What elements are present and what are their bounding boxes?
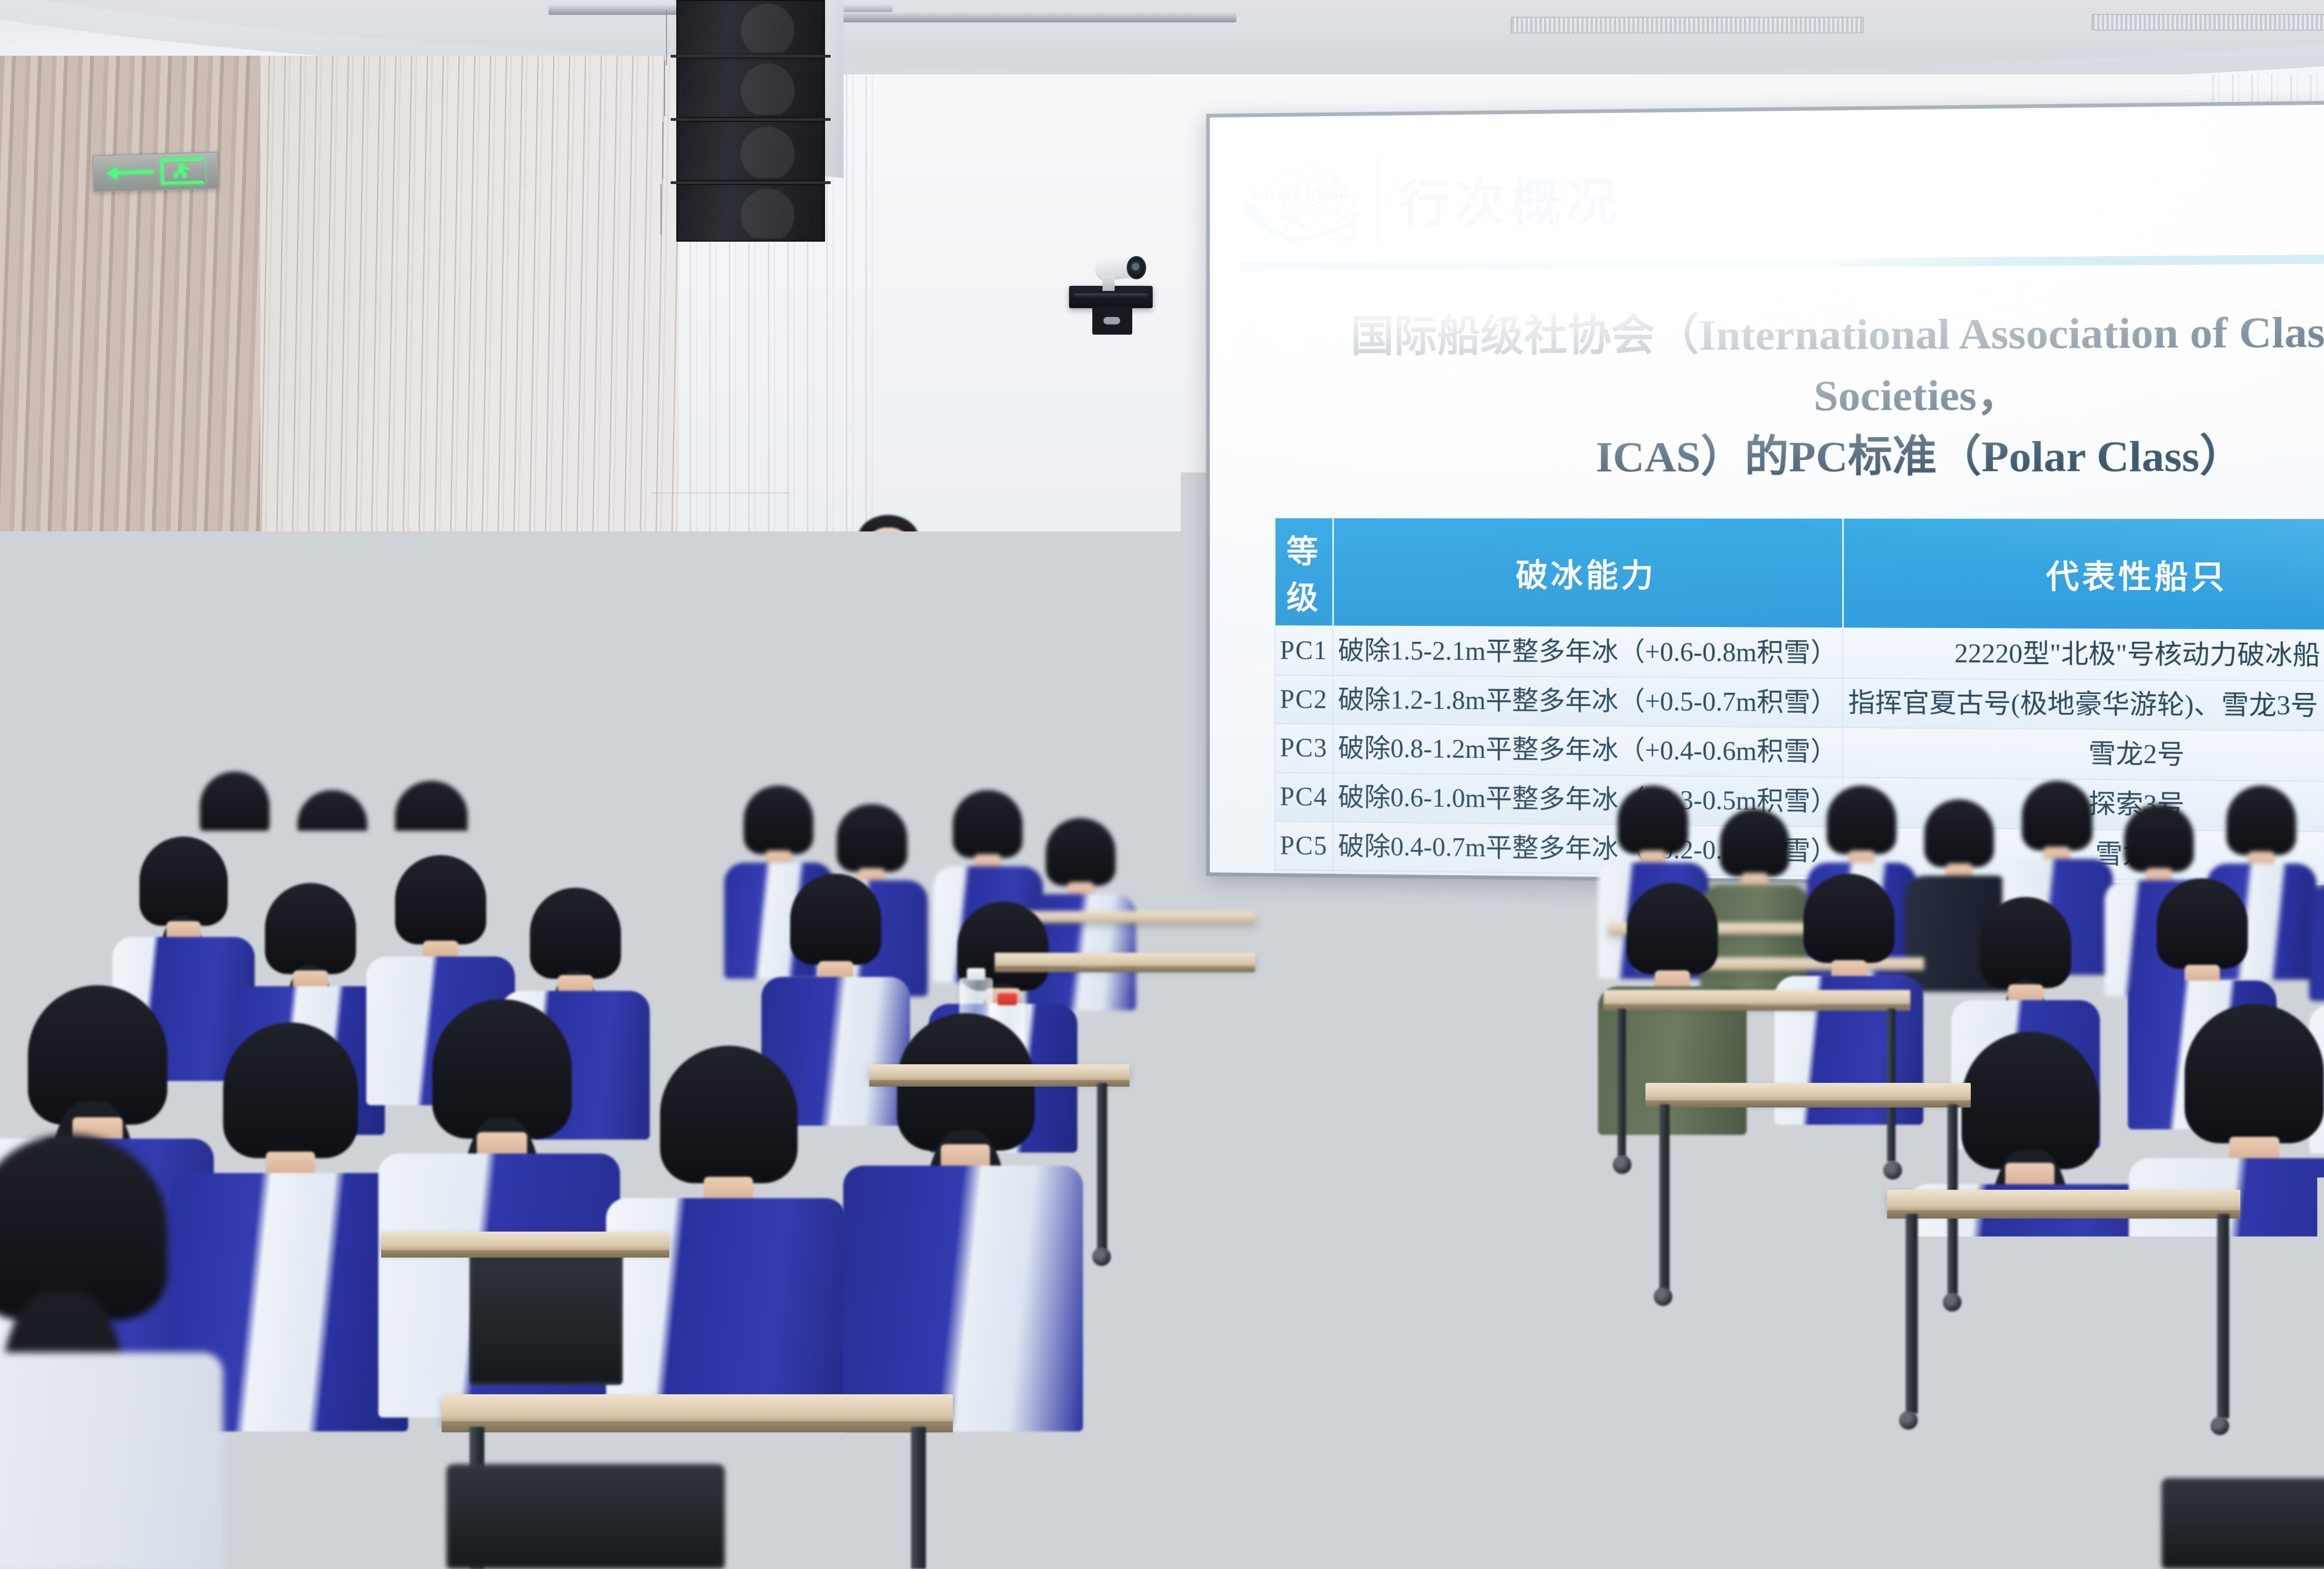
glasses-icon xyxy=(864,547,913,560)
wall-panel-seam xyxy=(651,493,790,494)
slide-body-title-line1: 国际船级社协会（International Association of Cla… xyxy=(1274,300,2324,427)
atom-logo-icon: Science Island xyxy=(1241,148,1371,254)
cell-capability: 破除1.5-2.1m平整多年冰（+0.6-0.8m积雪） xyxy=(1333,626,1843,678)
cell-grade: PC2 xyxy=(1275,675,1333,725)
camera-wall-bracket xyxy=(1092,307,1132,335)
speaker-safety-wire xyxy=(660,184,661,235)
ceiling-speaker-array xyxy=(676,0,825,242)
table-row: PC1 破除1.5-2.1m平整多年冰（+0.6-0.8m积雪） 22220型"… xyxy=(1275,626,2324,684)
exit-arrow-left-icon xyxy=(106,166,153,179)
podium-apron xyxy=(889,691,1062,712)
student xyxy=(0,1134,167,1569)
speaker-safety-wire xyxy=(666,9,667,65)
student xyxy=(790,874,881,1125)
desk xyxy=(1604,990,1910,1006)
student xyxy=(1720,809,1789,1004)
chair[interactable] xyxy=(469,1246,623,1385)
exit-door-icon xyxy=(1414,968,1450,989)
table-header-row: 等级 破冰能力 代表性船只 备注 xyxy=(1275,518,2324,633)
speaker-safety-wire xyxy=(662,122,663,179)
exit-sign-led xyxy=(1450,987,1457,991)
header-divider xyxy=(1376,156,1378,244)
desk xyxy=(1645,1083,1971,1101)
cell-capability: 破除1.2-1.8m平整多年冰（+0.5-0.7m积雪） xyxy=(1333,675,1843,728)
logo-text: Science Island xyxy=(1249,184,1348,203)
slide-header: Science Island 行次概况 xyxy=(1241,128,2324,259)
exit-arrow-left-icon xyxy=(1370,974,1408,983)
student xyxy=(660,1046,798,1455)
slide-body-title-line2: ICAS）的PC标准（Polar Class） xyxy=(1274,424,2324,487)
speaker-module xyxy=(676,58,825,118)
cell-ships: 22220型"北极"号核动力破冰船 xyxy=(1843,628,2324,681)
slide-header-title: 行次概况 xyxy=(1399,161,1622,237)
table-header-grade: 等级 xyxy=(1275,518,1333,626)
desk xyxy=(995,953,1255,968)
presentation-slide: Science Island 行次概况 国际船级社协会（Internationa… xyxy=(1210,101,2324,889)
speaker-module xyxy=(676,184,825,242)
desk xyxy=(381,1232,669,1251)
podium-institution-text: 中国科学院合肥物质院 xyxy=(883,639,1069,660)
dslr-camera-lens xyxy=(746,734,786,768)
speaker-safety-wire xyxy=(664,60,665,116)
running-man-icon xyxy=(170,163,195,179)
projection-screen: Science Island 行次概况 国际船级社协会（Internationa… xyxy=(1206,97,2324,893)
chair[interactable] xyxy=(2161,1478,2324,1569)
speaker-module xyxy=(676,121,825,181)
cell-grade: PC1 xyxy=(1275,626,1333,675)
student xyxy=(223,1022,358,1431)
slide-body: 国际船级社协会（International Association of Cla… xyxy=(1241,262,2324,889)
cell-ships: 指挥官夏古号(极地豪华游轮)、雪龙3号（在建） xyxy=(1843,678,2324,732)
desk xyxy=(869,1064,1129,1081)
emergency-exit-sign xyxy=(92,152,219,192)
speaker-module xyxy=(676,0,825,56)
slide-surface: Science Island 行次概况 国际船级社协会（Internationa… xyxy=(1210,101,2324,889)
ptz-camera-neck xyxy=(1103,275,1115,291)
cell-grade: PC3 xyxy=(1275,724,1333,773)
student xyxy=(1961,1032,2099,1450)
exit-door-icon xyxy=(160,158,205,185)
emergency-exit-sign xyxy=(1360,963,1461,994)
cell-grade: PC5 xyxy=(1275,821,1333,870)
ceiling-air-grille xyxy=(2092,14,2324,31)
ceiling-beam xyxy=(818,12,1236,22)
student xyxy=(1116,1348,1311,1569)
running-man-icon xyxy=(1422,973,1442,985)
table-header-ships: 代表性船只 xyxy=(1843,518,2324,631)
cell-ships: 雪龙2号 xyxy=(1843,728,2324,782)
desk xyxy=(1887,1190,2240,1211)
table-header-capability: 破冰能力 xyxy=(1333,518,1843,628)
desk xyxy=(442,1394,953,1423)
science-island-logo: Science Island xyxy=(1241,148,1371,254)
chair[interactable] xyxy=(446,1464,725,1569)
glasses-icon xyxy=(662,705,705,717)
cell-grade: PC4 xyxy=(1275,772,1333,822)
camera-lens-icon xyxy=(1127,256,1146,279)
cell-capability: 破除0.8-1.2m平整多年冰（+0.4-0.6m积雪） xyxy=(1333,724,1843,777)
ceiling-air-grille xyxy=(1511,17,1864,33)
lecture-hall-photo: Science Island 行次概况 国际船级社协会（Internationa… xyxy=(0,0,2324,1569)
chair[interactable] xyxy=(2231,1255,2324,1394)
